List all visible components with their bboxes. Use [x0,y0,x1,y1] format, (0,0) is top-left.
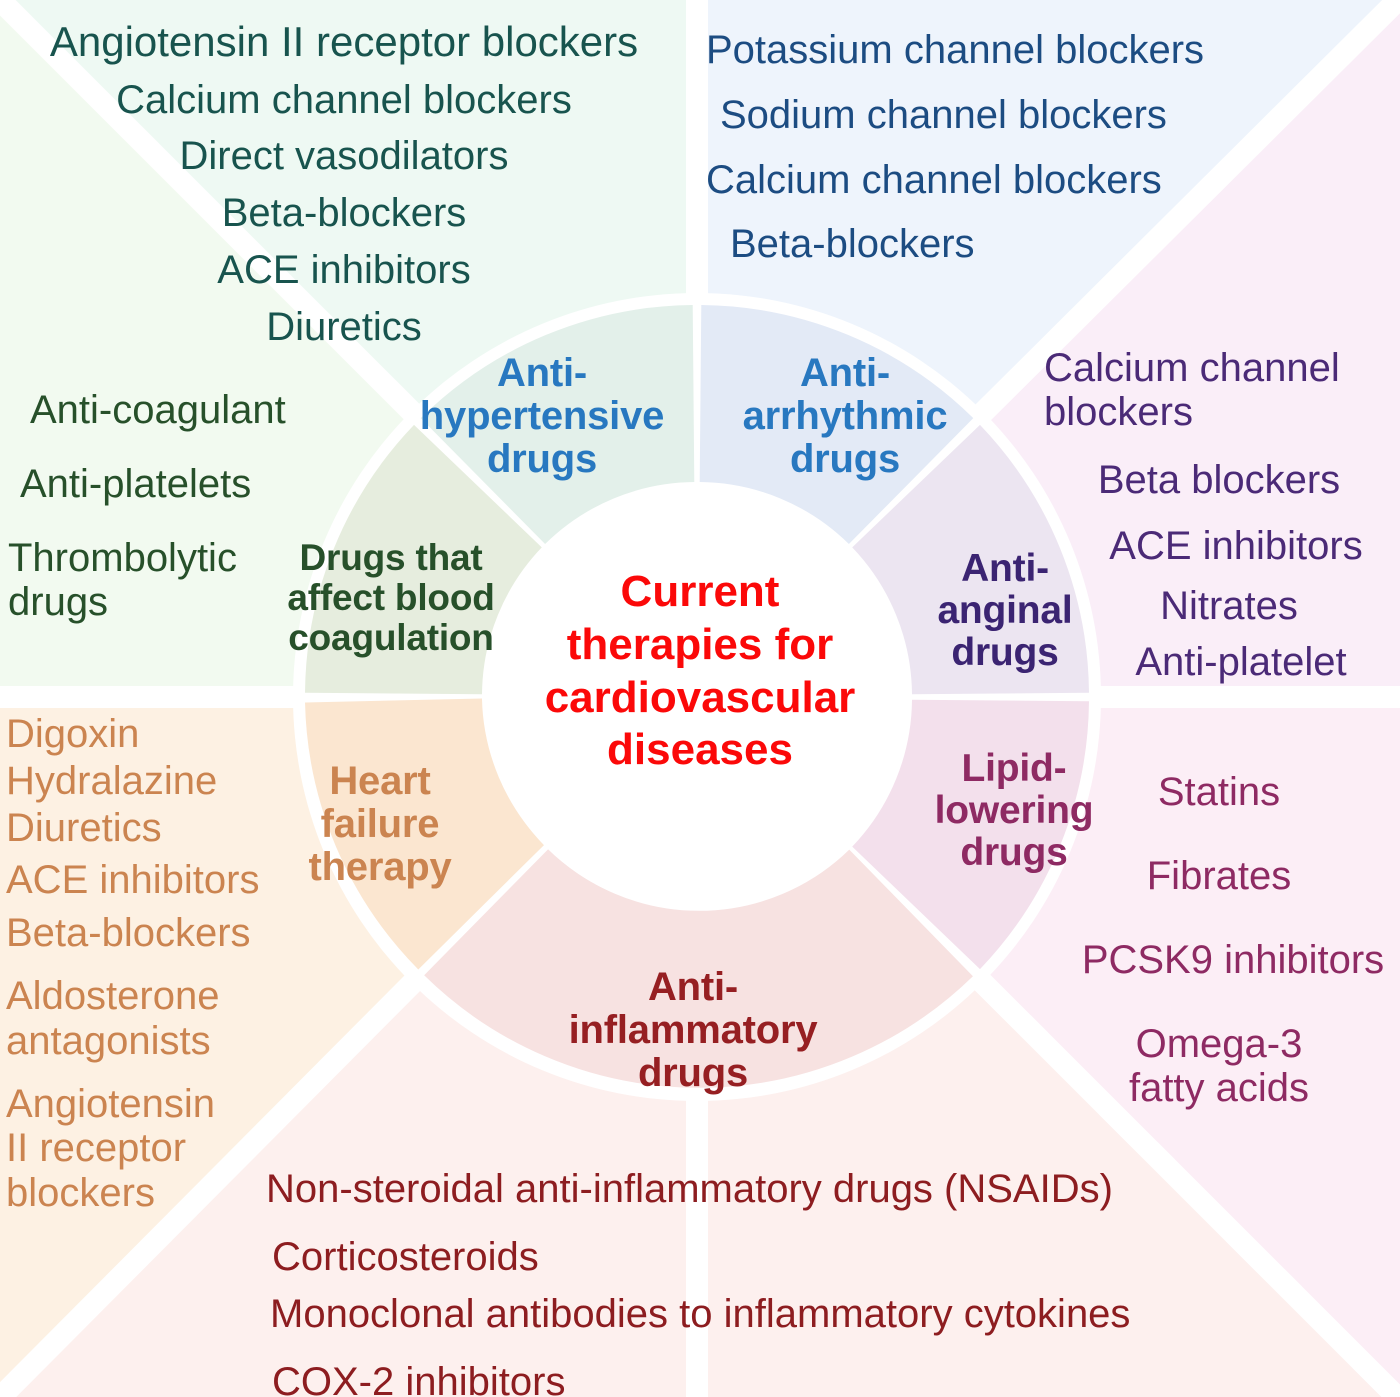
list-item: Anti-coagulant [8,388,348,432]
ring-label-antiarrhythmic[interactable]: Anti- arrhythmic drugs [700,352,990,482]
list-item: Anti-platelets [8,462,348,506]
list-item: Diuretics [14,299,674,356]
list-item: Direct vasodilators [14,128,674,185]
list-item: Calcium channel blockers [14,72,674,129]
list-item: PCSK9 inhibitors [1040,938,1398,982]
list-item: ACE inhibitors [14,242,674,299]
list-item: Beta-blockers [6,911,306,956]
list-item: Monoclonal antibodies to inflammatory cy… [266,1291,1246,1337]
ring-label-antianginal[interactable]: Anti- anginal drugs [900,548,1110,674]
ring-label-line: Anti- [392,352,692,395]
list-item: Calcium channel blockers [706,148,1306,213]
ring-label-line: Anti- [900,548,1110,590]
ring-label-line: hypertensive [392,395,692,438]
ring-label-lipid-lowering[interactable]: Lipid- lowering drugs [908,748,1120,874]
center-title-line: diseases [500,724,900,777]
ring-label-line: therapy [282,846,478,889]
list-item: ACE inhibitors [6,858,306,903]
list-item: Omega-3 [1040,1022,1398,1066]
ring-label-line: lowering [908,790,1120,832]
list-item: Angiotensin [6,1082,306,1127]
list-item: Beta-blockers [14,185,674,242]
list-item: Beta blockers [1044,458,1394,502]
center-title-line: Current [500,566,900,619]
ring-label-line: Heart [282,760,478,803]
infographic-canvas: Current therapies for cardiovascular dis… [0,0,1400,1397]
ring-label-line: drugs [900,632,1110,674]
ring-label-line: drugs [908,832,1120,874]
ring-label-line: Anti- [528,966,858,1009]
ring-label-coagulation[interactable]: Drugs that affect blood coagulation [270,538,512,658]
list-antiinflammatory: Non-steroidal anti-inflammatory drugs (N… [266,1166,1246,1397]
list-antihypertensive: Angiotensin II receptor blockers Calcium… [14,12,674,356]
list-item: blockers [1044,390,1394,434]
list-item: antagonists [6,1019,306,1064]
ring-label-antiinflammatory[interactable]: Anti- inflammatory drugs [528,966,858,1096]
list-item: Corticosteroids [266,1234,1246,1280]
list-item: Angiotensin II receptor blockers [14,12,674,72]
ring-label-line: coagulation [270,618,512,658]
ring-label-line: drugs [392,438,692,481]
ring-label-line: arrhythmic [700,395,990,438]
ring-label-line: anginal [900,590,1110,632]
list-item: COX-2 inhibitors [266,1359,1246,1397]
list-item: fatty acids [1040,1066,1398,1110]
center-title: Current therapies for cardiovascular dis… [500,566,900,777]
ring-label-line: Lipid- [908,748,1120,790]
list-item: Potassium channel blockers [706,18,1306,83]
list-item: Digoxin [6,712,306,757]
ring-label-line: Anti- [700,352,990,395]
list-item: blockers [6,1171,306,1216]
ring-label-heart-failure[interactable]: Heart failure therapy [282,760,478,890]
list-item: II receptor [6,1126,306,1171]
ring-label-line: drugs [700,438,990,481]
ring-label-line: inflammatory [528,1009,858,1052]
ring-label-antihypertensive[interactable]: Anti- hypertensive drugs [392,352,692,482]
list-heart-failure: Digoxin Hydralazine Diuretics ACE inhibi… [6,712,306,1216]
list-item: Aldosterone [6,974,306,1019]
list-item: Calcium channel [1044,346,1394,390]
list-antiarrhythmic: Potassium channel blockers Sodium channe… [706,18,1306,277]
ring-label-line: drugs [528,1052,858,1095]
center-title-line: therapies for [500,619,900,672]
list-item: Hydralazine [6,759,306,804]
center-title-line: cardiovascular [500,672,900,725]
list-item: Sodium channel blockers [706,83,1306,148]
ring-label-line: affect blood [270,578,512,618]
list-item: Beta-blockers [706,212,1306,277]
list-item: Non-steroidal anti-inflammatory drugs (N… [266,1166,1246,1212]
ring-label-line: Drugs that [270,538,512,578]
ring-label-line: failure [282,803,478,846]
list-item: Diuretics [6,806,306,851]
